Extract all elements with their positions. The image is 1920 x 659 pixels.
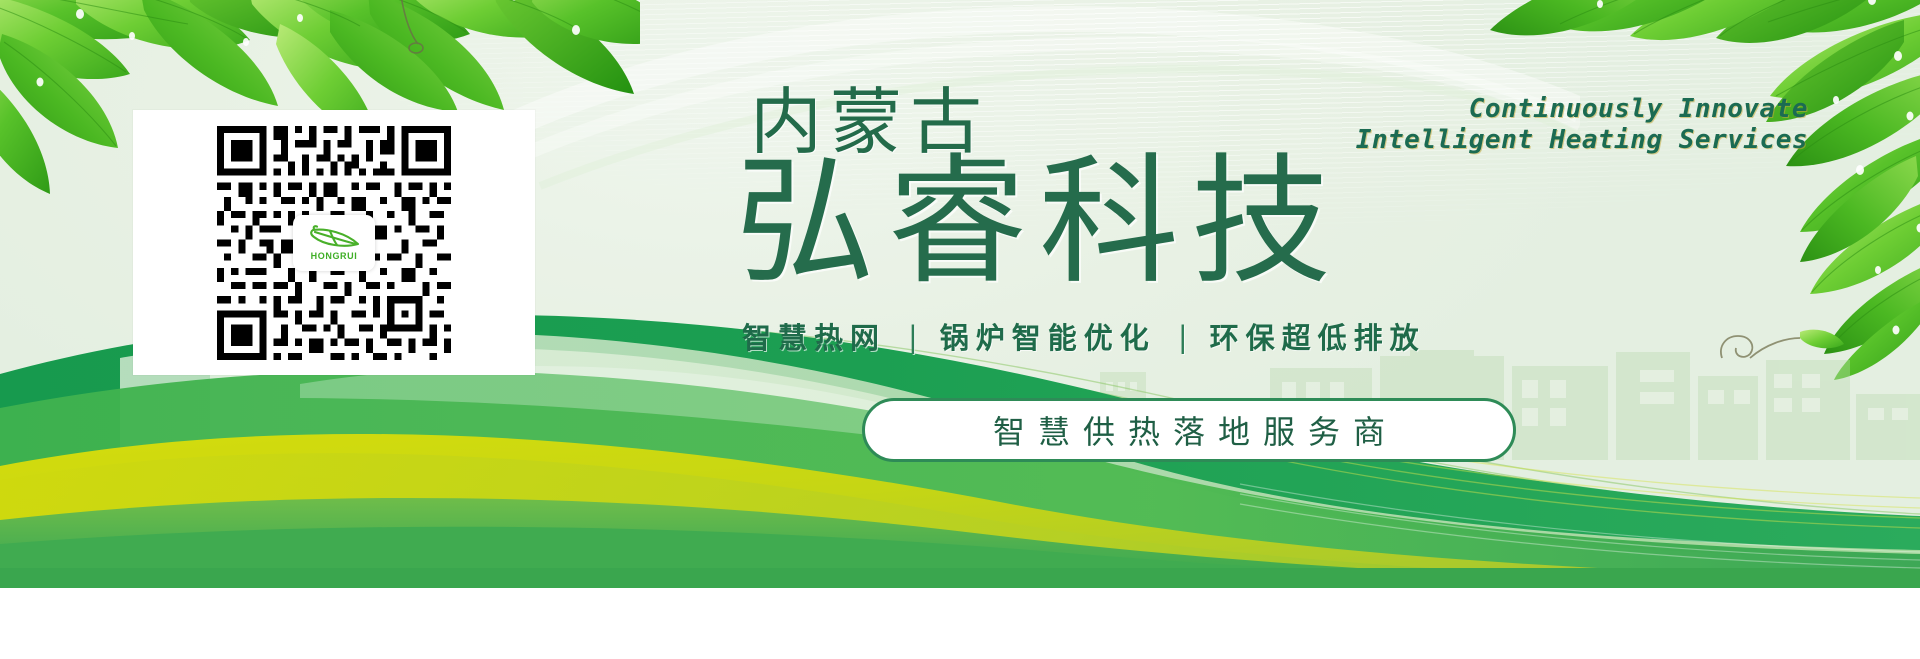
service-separator-1: | [886, 323, 940, 352]
leaf-bird-logo-icon [306, 225, 362, 251]
english-tagline-line-1: Continuously Innovate [1168, 94, 1808, 125]
slogan-text: 智慧供热落地服务商 [980, 407, 1398, 453]
service-separator-2: | [1156, 323, 1210, 352]
company-name: 弘睿科技 [735, 152, 1343, 295]
service-item-2: 锅炉智能优化 [940, 324, 1156, 353]
service-item-3: 环保超低排放 [1210, 324, 1426, 353]
service-item-1: 智慧热网 [742, 324, 886, 353]
page-background-below-banner [0, 588, 1920, 659]
service-highlights: 智慧热网 | 锅炉智能优化 | 环保超低排放 [742, 324, 1426, 353]
brand-logo-badge: HONGRUI [293, 215, 375, 271]
slogan-badge: 智慧供热落地服务商 [862, 398, 1516, 462]
promo-banner: HONGRUI 内蒙古 Continuously Innovate Intell… [0, 0, 1920, 588]
logo-wordmark: HONGRUI [311, 252, 358, 261]
qr-code-card[interactable]: HONGRUI [133, 110, 535, 375]
